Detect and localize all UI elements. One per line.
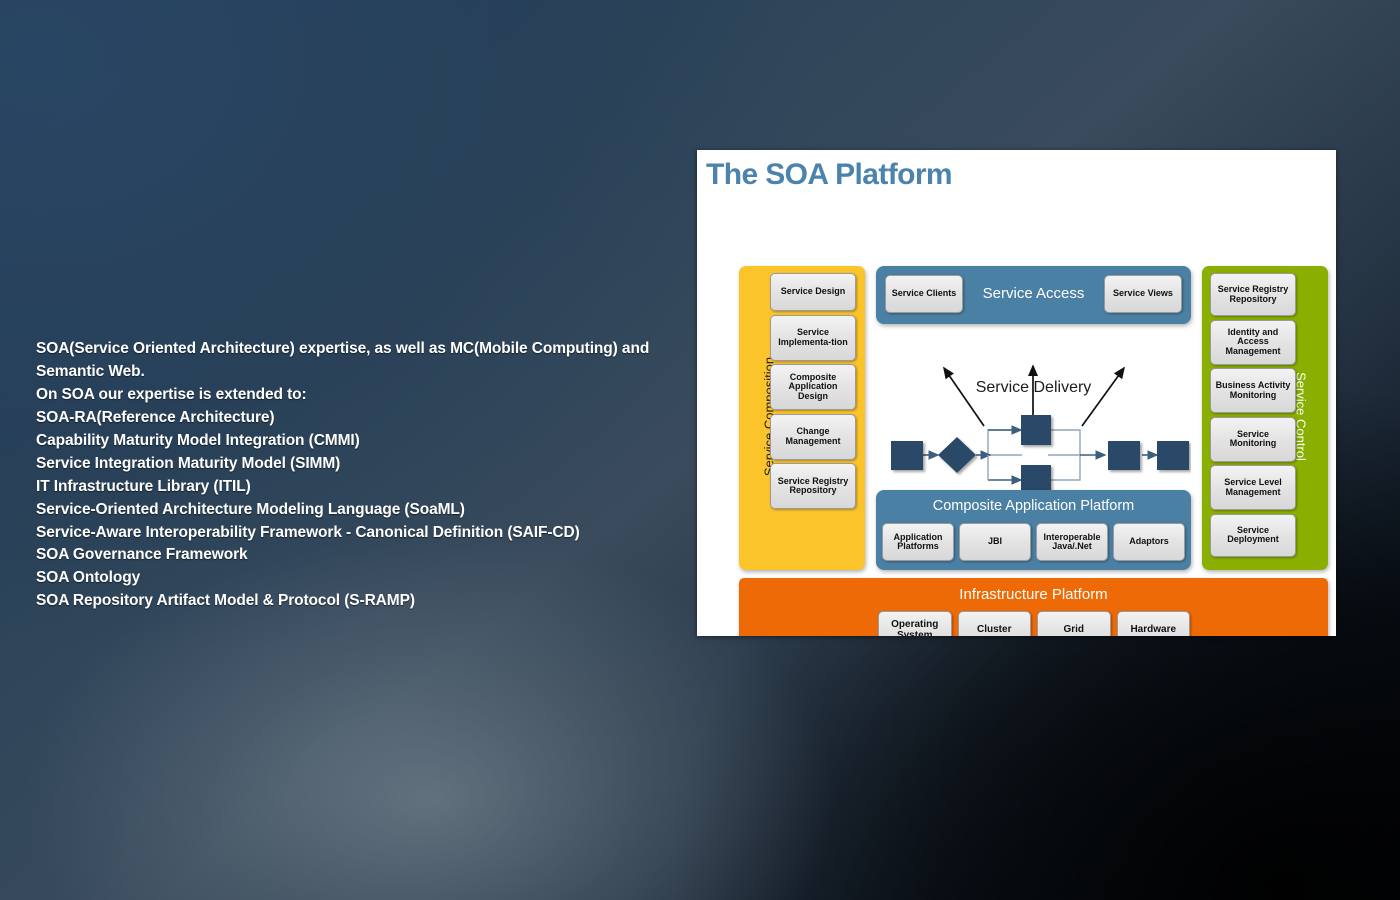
service-access-band: Service Clients Service Access Service V… <box>876 266 1191 324</box>
chip-composite-application-design[interactable]: Composite Application Design <box>770 364 856 410</box>
service-delivery-flow: Service Delivery <box>876 324 1191 490</box>
flow-rail-left <box>988 430 1022 455</box>
flow-node-start <box>891 441 923 470</box>
composite-application-platform-label: Composite Application Platform <box>876 498 1191 514</box>
slide-body-text: SOA(Service Oriented Architecture) exper… <box>36 338 696 613</box>
composite-application-platform-items: Application Platforms JBI Interoperable … <box>882 523 1185 561</box>
body-line: SOA Ontology <box>36 567 696 590</box>
chip-service-registry-repository-control[interactable]: Service Registry Repository <box>1210 273 1296 316</box>
chip-interoperable-java-net[interactable]: Interoperable Java/.Net <box>1036 523 1108 561</box>
chip-jbi[interactable]: JBI <box>959 523 1031 561</box>
chip-service-views[interactable]: Service Views <box>1104 275 1182 313</box>
delivery-arrow-left <box>944 368 984 426</box>
body-line: SOA Governance Framework <box>36 544 696 567</box>
body-line: Capability Maturity Model Integration (C… <box>36 430 696 453</box>
service-control-items: Service Registry Repository Identity and… <box>1210 273 1296 560</box>
body-line: Service-Oriented Architecture Modeling L… <box>36 499 696 522</box>
flow-node-end <box>1157 441 1189 470</box>
chip-application-platforms[interactable]: Application Platforms <box>882 523 954 561</box>
service-composition-column: Service Composition Service Design Servi… <box>739 266 865 570</box>
flow-rail-right <box>1048 430 1080 455</box>
chip-grid[interactable]: Grid <box>1037 611 1111 636</box>
service-control-column: Service Control Service Registry Reposit… <box>1202 266 1328 570</box>
chip-service-registry-repository[interactable]: Service Registry Repository <box>770 463 856 509</box>
chip-adaptors[interactable]: Adaptors <box>1113 523 1185 561</box>
chip-business-activity-monitoring[interactable]: Business Activity Monitoring <box>1210 368 1296 413</box>
infrastructure-platform-label: Infrastructure Platform <box>739 586 1328 603</box>
body-line: SOA(Service Oriented Architecture) exper… <box>36 338 696 384</box>
chip-change-management[interactable]: Change Management <box>770 414 856 460</box>
body-line: Service Integration Maturity Model (SIMM… <box>36 453 696 476</box>
body-line: On SOA our expertise is extended to: <box>36 384 696 407</box>
diagram-canvas: Service Composition Service Design Servi… <box>739 228 1328 628</box>
flow-node-decision <box>938 437 976 473</box>
service-composition-items: Service Design Service Implementa-tion C… <box>770 273 856 513</box>
soa-platform-diagram-panel: The SOA Platform Service Composition Ser… <box>697 150 1336 636</box>
flow-node-lower <box>1021 465 1051 490</box>
delivery-arrow-right <box>1082 368 1124 426</box>
chip-service-implementation[interactable]: Service Implementa-tion <box>770 315 856 361</box>
flow-graphic <box>876 324 1191 490</box>
composite-application-platform-band: Composite Application Platform Applicati… <box>876 490 1191 570</box>
infrastructure-platform-items: Operating System Cluster Grid Hardware <box>878 611 1190 636</box>
body-line: Service-Aware Interoperability Framework… <box>36 522 696 545</box>
chip-operating-system[interactable]: Operating System <box>878 611 952 636</box>
chip-service-deployment[interactable]: Service Deployment <box>1210 514 1296 557</box>
chip-service-monitoring[interactable]: Service Monitoring <box>1210 417 1296 462</box>
body-line: SOA-RA(Reference Architecture) <box>36 407 696 430</box>
flow-rail-lower-right <box>1048 455 1080 480</box>
infrastructure-platform-band: Infrastructure Platform Operating System… <box>739 578 1328 636</box>
chip-hardware[interactable]: Hardware <box>1117 611 1191 636</box>
flow-node-merge <box>1108 441 1140 470</box>
flow-node-upper <box>1021 415 1051 445</box>
body-line: IT Infrastructure Library (ITIL) <box>36 476 696 499</box>
chip-identity-and-access-management[interactable]: Identity and Access Management <box>1210 320 1296 365</box>
chip-cluster[interactable]: Cluster <box>958 611 1032 636</box>
chip-service-level-management[interactable]: Service Level Management <box>1210 465 1296 510</box>
body-line: SOA Repository Artifact Model & Protocol… <box>36 590 696 613</box>
chip-service-design[interactable]: Service Design <box>770 273 856 311</box>
diagram-title: The SOA Platform <box>706 158 952 192</box>
